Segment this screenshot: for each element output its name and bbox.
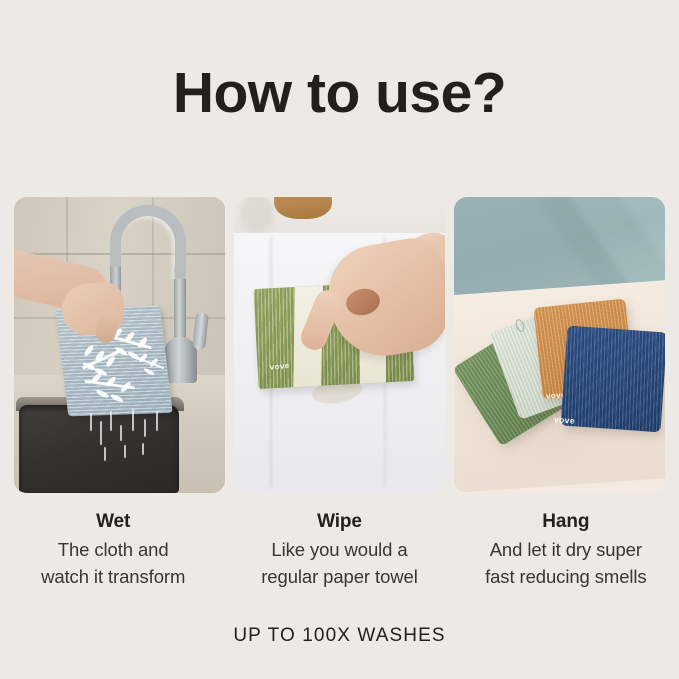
caption-wipe: Wipe Like you would a regular paper towe…: [226, 508, 452, 590]
caption-line-2: regular paper towel: [232, 564, 446, 590]
step-photo-wet: [14, 197, 225, 493]
water-drip: [156, 411, 158, 431]
sink-basin: [19, 405, 179, 493]
step-photo-hang: vove vove: [454, 197, 665, 493]
caption-wet: Wet The cloth and watch it transform: [0, 508, 226, 590]
water-drip: [104, 447, 106, 461]
cloth-navy: [561, 326, 665, 433]
water-drip: [100, 421, 102, 445]
water-drip: [124, 445, 126, 458]
how-to-use-infographic: How to use?: [0, 0, 679, 679]
step-captions-row: Wet The cloth and watch it transform Wip…: [0, 508, 679, 590]
faucet-neck: [110, 205, 186, 279]
water-drip: [142, 443, 144, 455]
water-drip: [144, 419, 146, 437]
caption-line-2: watch it transform: [6, 564, 220, 590]
caption-heading: Hang: [459, 508, 673, 536]
caption-line-1: And let it dry super: [459, 537, 673, 563]
caption-hang: Hang And let it dry super fast reducing …: [453, 508, 679, 590]
caption-line-2: fast reducing smells: [459, 564, 673, 590]
page-title: How to use?: [0, 62, 679, 125]
brand-logo: vove: [269, 361, 290, 372]
caption-line-1: The cloth and: [6, 537, 220, 563]
caption-heading: Wipe: [232, 508, 446, 536]
cloth-rib-texture: [561, 326, 665, 433]
caption-heading: Wet: [6, 508, 220, 536]
brand-logo: vove: [554, 414, 576, 425]
caption-line-1: Like you would a: [232, 537, 446, 563]
footer-washes-claim: UP TO 100X WASHES: [0, 625, 679, 647]
water-drip: [120, 425, 122, 441]
step-photo-wipe: vove: [234, 197, 445, 493]
water-drip: [132, 409, 134, 431]
step-photos-row: vove vove: [14, 197, 665, 493]
